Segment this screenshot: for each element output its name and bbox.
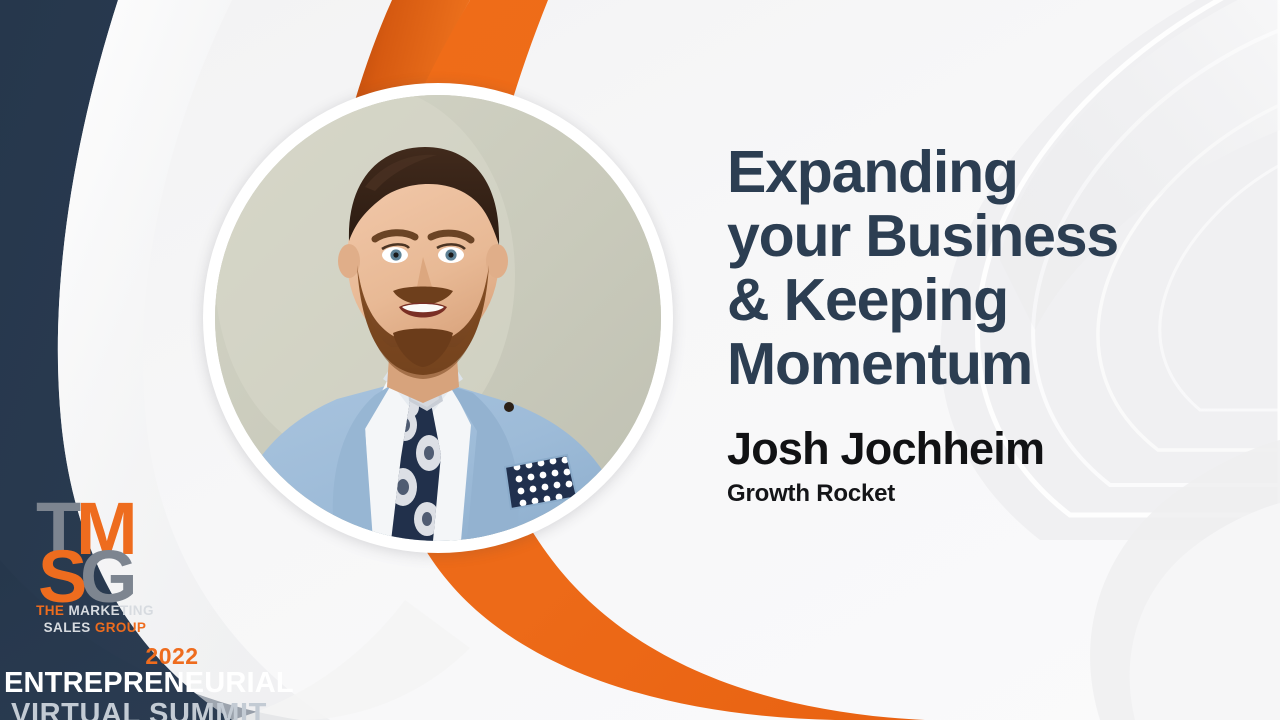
tagline-line-2: SALES GROUP [32,619,158,636]
tagline-group: GROUP [95,620,147,635]
slide-text-block: Expanding your Business & Keeping Moment… [727,140,1207,508]
event-title-line-1: ENTREPRENEURIAL [4,668,274,699]
brand-lockup: T M S G THE MARKETING SALES GROUP 2022 E… [26,492,286,720]
tagline-sales: SALES [44,620,95,635]
event-lockup: 2022 ENTREPRENEURIAL VIRTUAL SUMMIT [4,644,274,720]
logo-letter-g: G [80,540,133,614]
speaker-photo [215,95,661,541]
speaker-portrait-illustration [215,95,661,541]
event-year: 2022 [70,644,274,668]
page-title: Expanding your Business & Keeping Moment… [727,140,1207,396]
tmsg-logo-icon: T M S G [36,492,152,598]
speaker-name: Josh Jochheim [727,424,1207,474]
speaker-company: Growth Rocket [727,480,1207,508]
presentation-slide: Expanding your Business & Keeping Moment… [0,0,1280,720]
event-title-line-2: VIRTUAL SUMMIT [4,699,274,720]
logo-letter-s: S [38,540,82,614]
